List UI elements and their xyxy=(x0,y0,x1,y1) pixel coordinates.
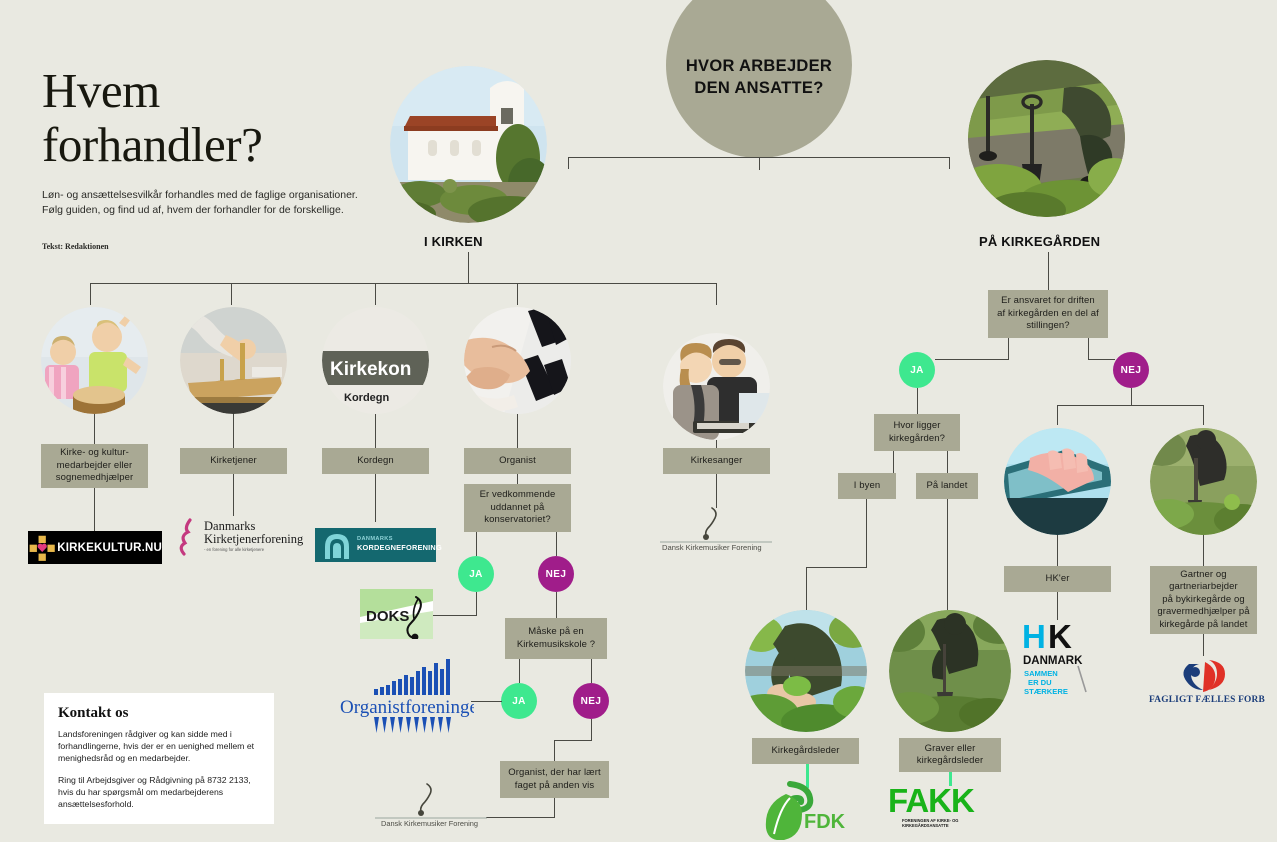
logo-kirkekultur-nu: KIRKEKULTUR.NU xyxy=(28,531,162,564)
cemetery-question-1: Er ansvaret for driften af kirkegården e… xyxy=(988,290,1108,338)
connector-ja-doks-v xyxy=(476,592,477,616)
connector-q2-nej xyxy=(591,659,592,683)
logo-danmarks-kordegneforening: DANMARKS KORDEGNEFORENING xyxy=(315,528,436,562)
option-box-city[interactable]: I byen xyxy=(838,473,896,499)
connector-nej-q2 xyxy=(556,592,557,618)
svg-text:DOKS: DOKS xyxy=(366,608,409,625)
logo-fdk: FDK xyxy=(760,780,856,840)
connector-head-horizontal xyxy=(568,157,950,158)
connector-cnej-bus xyxy=(1057,405,1203,406)
hands-on-piano-photo xyxy=(464,307,571,414)
connector-hk-role-logo xyxy=(1057,592,1058,620)
head-question-label: HVOR ARBEJDER DEN ANSATTE? xyxy=(666,31,852,99)
connector-gartner-photo-role xyxy=(1203,535,1204,566)
logo-dansk-kirkemusiker-forening-2: Dansk Kirkemusiker Forening xyxy=(375,778,487,828)
svg-text:FAKK: FAKK xyxy=(888,782,975,819)
kirkekultur-figure-icon xyxy=(28,531,57,564)
organist-question-1: Er vedkommende uddannet på konservatorie… xyxy=(464,484,571,532)
hands-on-laptop-photo xyxy=(1004,428,1111,535)
connector-cq1-left-v xyxy=(1008,338,1009,360)
church-photo xyxy=(390,66,547,223)
option-box-country[interactable]: På landet xyxy=(916,473,978,499)
logo-fagligt-faelles-forbund: FAGLIGT FÆLLES FORBUND xyxy=(1143,656,1265,706)
connector-nej2-h xyxy=(554,740,592,741)
svg-text:FAGLIGT FÆLLES FORBUND: FAGLIGT FÆLLES FORBUND xyxy=(1149,695,1265,705)
connector-cq1-left-h xyxy=(935,359,1009,360)
role-box-organist[interactable]: Organist xyxy=(464,448,571,474)
svg-text:Kordegn: Kordegn xyxy=(344,392,390,404)
cemetery-q1-no-badge[interactable]: NEJ xyxy=(1113,352,1149,388)
connector-cnej-left xyxy=(1057,405,1058,425)
gravedigger-photo xyxy=(889,610,1011,732)
two-singers-photo xyxy=(663,333,770,440)
logo-kirkekultur-label: KIRKEKULTUR.NU xyxy=(57,542,162,554)
connector-city-h xyxy=(806,567,867,568)
connector-cja-q2 xyxy=(917,388,918,414)
connector-photo-role-2 xyxy=(233,414,234,448)
logo-danmarks-kirketjenerforening: Danmarks Kirketjenerforening - en foreni… xyxy=(178,516,296,556)
svg-text:Dansk Kirkemusiker Forening: Dansk Kirkemusiker Forening xyxy=(662,543,762,552)
connector-organist-q1 xyxy=(517,474,518,484)
svg-text:KIRKEGÅRDSANSATTE: KIRKEGÅRDSANSATTE xyxy=(902,823,949,828)
svg-text:K: K xyxy=(1048,618,1072,655)
connector-q2-ja xyxy=(519,659,520,683)
logo-kordegne-line1: DANMARKS xyxy=(357,536,393,542)
kirketjener-flame-icon xyxy=(178,518,202,556)
connector-church-bus xyxy=(90,283,716,284)
children-with-drums-photo xyxy=(41,307,148,414)
cemetery-question-2: Hvor ligger kirkegården? xyxy=(874,414,960,451)
connector-to-role-5 xyxy=(716,283,717,305)
logo-hk-danmark: H K DANMARK SAMMEN ER DU STÆRKERE xyxy=(1022,618,1100,710)
organist-other-box: Organist, der har lært faget på anden vi… xyxy=(500,761,609,798)
connector-role-logo-3 xyxy=(375,474,376,522)
connector-cnej-right xyxy=(1203,405,1204,425)
svg-text:Kirkekon: Kirkekon xyxy=(330,359,411,380)
connector-gartner-role-logo xyxy=(1203,634,1204,656)
connector-cq1-right-v xyxy=(1088,338,1089,360)
organist-q1-no-badge[interactable]: NEJ xyxy=(538,556,574,592)
svg-text:SAMMEN: SAMMEN xyxy=(1024,669,1058,678)
role-box-hker[interactable]: HK'er xyxy=(1004,566,1111,592)
svg-text:H: H xyxy=(1022,618,1046,655)
connector-other-logo-h xyxy=(486,817,555,818)
connector-other-logo-v xyxy=(554,798,555,818)
page-title: Hvem forhandler? xyxy=(42,64,262,172)
connector-cemetery-down xyxy=(1048,252,1049,290)
polishing-candlesticks-photo xyxy=(180,307,287,414)
organist-q2-no-badge[interactable]: NEJ xyxy=(573,683,609,719)
connector-head-right xyxy=(949,157,950,169)
connector-cq2-country xyxy=(947,451,948,473)
logo-fakk: FAKK FORENINGEN AF KIRKE- OG KIRKEGÅRDSA… xyxy=(888,782,1004,830)
connector-church-down xyxy=(468,252,469,284)
connector-to-role-4 xyxy=(517,283,518,305)
svg-text:Dansk Kirkemusiker Forening: Dansk Kirkemusiker Forening xyxy=(381,819,478,828)
connector-to-role-1 xyxy=(90,283,91,305)
role-box-kordegn[interactable]: Kordegn xyxy=(322,448,429,474)
connector-nej2-down xyxy=(591,719,592,741)
cemetery-gardener-photo xyxy=(968,60,1125,217)
page-title-line1: Hvem xyxy=(42,64,262,118)
kordegne-arch-icon xyxy=(322,531,352,561)
role-box-kirke-kultur[interactable]: Kirke- og kultur- medarbejder eller sogn… xyxy=(41,444,148,488)
role-box-graver[interactable]: Graver eller kirkegårdsleder xyxy=(899,738,1001,772)
credit-text: Tekst: Redaktionen xyxy=(42,242,109,251)
organist-q1-yes-badge[interactable]: JA xyxy=(458,556,494,592)
organist-question-2: Måske på en Kirkemusikskole ? xyxy=(505,618,607,659)
connector-role-logo-2 xyxy=(233,474,234,516)
cemetery-worker-photo xyxy=(1150,428,1257,535)
connector-head-down xyxy=(759,158,760,170)
logo-doks: DOKS xyxy=(360,589,433,639)
connector-cq1-right-h xyxy=(1088,359,1115,360)
organist-q2-yes-badge[interactable]: JA xyxy=(501,683,537,719)
kirkekontor-kordegn-sign-photo: Kirkekon Kordegn xyxy=(322,307,429,414)
kontakt-heading: Kontakt os xyxy=(58,705,260,722)
cemetery-q1-yes-badge[interactable]: JA xyxy=(899,352,935,388)
connector-hk-photo-role xyxy=(1057,535,1058,566)
logo-kordegne-line2: KORDEGNEFORENING xyxy=(357,543,442,552)
logo-organistforeningen: Organistforeningen xyxy=(338,655,474,741)
intro-text: Løn- og ansættelsesvilkår forhandles med… xyxy=(42,188,372,218)
logo-dansk-kirkemusiker-forening-1: Dansk Kirkemusiker Forening xyxy=(660,502,772,552)
page-title-line2: forhandler? xyxy=(42,118,262,172)
connector-cq2-city xyxy=(893,451,894,473)
connector-to-role-3 xyxy=(375,283,376,305)
role-box-kirkesanger[interactable]: Kirkesanger xyxy=(663,448,770,474)
kontakt-paragraph-1: Landsforeningen rådgiver og kan sidde me… xyxy=(58,728,260,764)
branch-title-church: I KIRKEN xyxy=(424,234,483,249)
connector-city-v2 xyxy=(806,567,807,610)
logo-kirketjener-line3: - en forening for alle kirketjenere xyxy=(204,547,264,552)
connector-q1-ja xyxy=(476,532,477,556)
svg-text:STÆRKERE: STÆRKERE xyxy=(1024,687,1068,696)
connector-ja2-logo xyxy=(471,701,502,702)
gardener-planting-photo xyxy=(745,610,867,732)
connector-cnej-down xyxy=(1131,388,1132,406)
svg-text:DANMARK: DANMARK xyxy=(1023,655,1083,667)
svg-text:Organistforeningen: Organistforeningen xyxy=(340,697,474,718)
svg-text:ER DU: ER DU xyxy=(1028,678,1052,687)
connector-to-role-2 xyxy=(231,283,232,305)
connector-city-v xyxy=(866,499,867,568)
connector-role-logo-1 xyxy=(94,488,95,531)
svg-text:FDK: FDK xyxy=(804,811,846,833)
head-question-circle: HVOR ARBEJDER DEN ANSATTE? xyxy=(666,0,852,158)
branch-title-cemetery: PÅ KIRKEGÅRDEN xyxy=(979,234,1100,249)
connector-nej2-v2 xyxy=(554,740,555,761)
connector-photo-role-4 xyxy=(517,414,518,448)
logo-kirketjener-line2: Kirketjenerforening xyxy=(204,533,303,547)
role-box-gartner[interactable]: Gartner og gartneriarbejder på bykirkegå… xyxy=(1150,566,1257,634)
connector-head-left xyxy=(568,157,569,169)
connector-photo-role-5 xyxy=(716,440,717,448)
connector-photo-role-1 xyxy=(94,414,95,444)
kontakt-paragraph-2: Ring til Arbejdsgiver og Rådgivning på 8… xyxy=(58,774,260,810)
role-box-kirkegaardsleder[interactable]: Kirkegårdsleder xyxy=(752,738,859,764)
kontakt-box: Kontakt os Landsforeningen rådgiver og k… xyxy=(44,693,274,824)
role-box-kirketjener[interactable]: Kirketjener xyxy=(180,448,287,474)
connector-country-v xyxy=(947,499,948,610)
connector-ja-doks-h xyxy=(432,615,477,616)
connector-photo-role-3 xyxy=(375,414,376,448)
connector-q1-nej xyxy=(556,532,557,556)
